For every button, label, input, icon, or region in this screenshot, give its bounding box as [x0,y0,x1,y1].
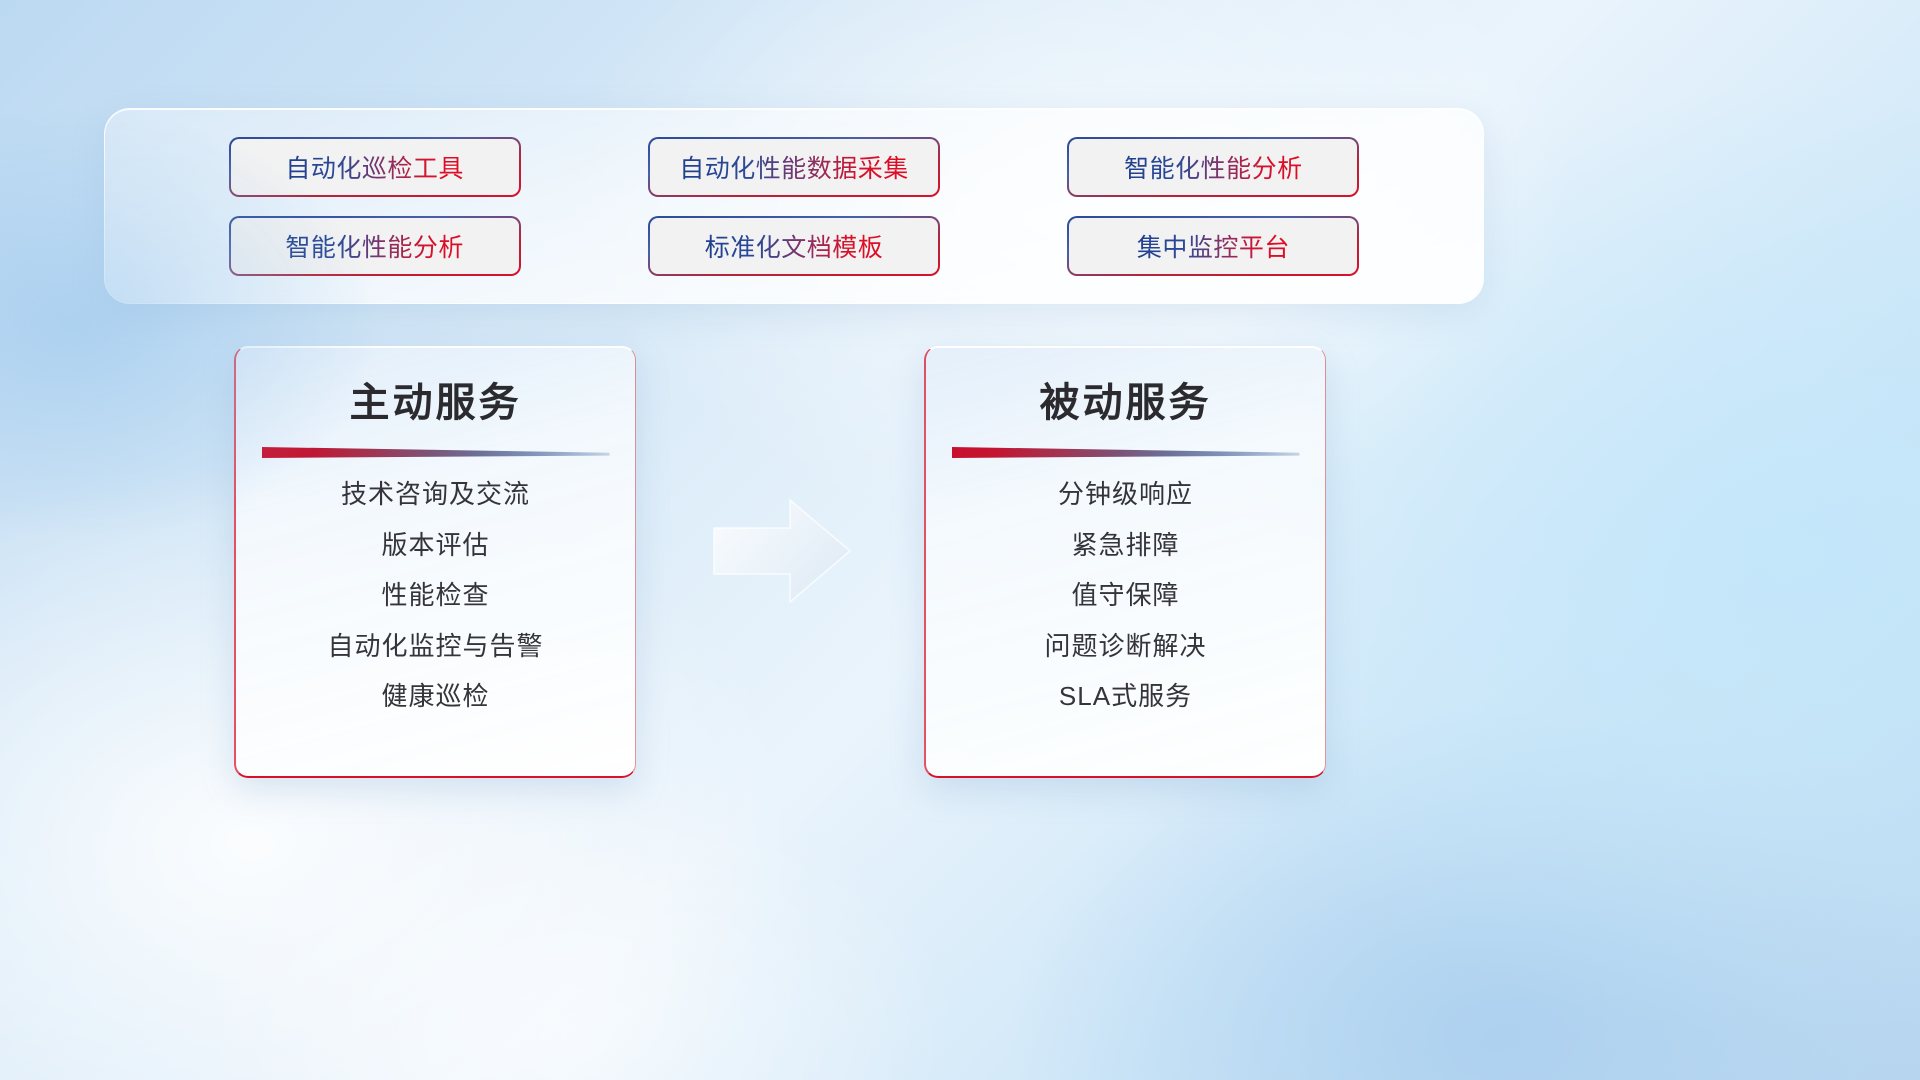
list-item: 版本评估 [381,531,489,560]
capability-pill-label: 集中监控平台 [1137,228,1290,264]
capability-pill-smart-perf-analysis-2[interactable]: 智能化性能分析 [229,216,521,276]
list-item: 紧急排障 [1071,531,1179,560]
pill-surface: 集中监控平台 [1069,218,1357,274]
service-card-active[interactable]: 主动服务 技术咨询及交流 版本评估 性能检查 自动化监控与告警 健康巡检 [234,346,636,778]
capability-pill-label: 标准化文档模板 [705,228,884,264]
capability-pill-standard-doc-template[interactable]: 标准化文档模板 [648,216,940,276]
pill-surface: 自动化巡检工具 [231,139,519,195]
capability-pill-label: 智能化性能分析 [285,228,464,264]
capability-pill-auto-perf-data-collection[interactable]: 自动化性能数据采集 [648,137,940,197]
pill-surface: 智能化性能分析 [1069,139,1357,195]
list-item: 问题诊断解决 [1044,632,1206,661]
capability-pill-label: 智能化性能分析 [1124,149,1303,185]
flow-arrow-right-icon [712,498,852,604]
card-divider [262,447,610,458]
list-item: 性能检查 [381,581,489,610]
list-item: 自动化监控与告警 [327,632,543,661]
capability-pill-auto-inspection-tool[interactable]: 自动化巡检工具 [229,137,521,197]
capability-pill-smart-perf-analysis[interactable]: 智能化性能分析 [1067,137,1359,197]
capabilities-panel: 自动化巡检工具 自动化性能数据采集 智能化性能分析 智能化性能分析 标准化文档模… [104,108,1484,304]
list-item: 分钟级响应 [1058,480,1193,509]
card-divider [952,447,1300,458]
pill-surface: 智能化性能分析 [231,218,519,274]
service-list-active: 技术咨询及交流 版本评估 性能检查 自动化监控与告警 健康巡检 [260,480,611,711]
service-card-passive[interactable]: 被动服务 分钟级响应 紧急排障 值守保障 问题诊断解决 SLA式服务 [924,346,1326,778]
slide-canvas: 自动化巡检工具 自动化性能数据采集 智能化性能分析 智能化性能分析 标准化文档模… [0,0,1920,1080]
list-item: 健康巡检 [381,682,489,711]
capability-pill-label: 自动化巡检工具 [285,149,464,185]
list-item: 技术咨询及交流 [341,480,530,509]
list-item: 值守保障 [1071,581,1179,610]
service-list-passive: 分钟级响应 紧急排障 值守保障 问题诊断解决 SLA式服务 [950,480,1301,711]
card-title-active: 主动服务 [350,381,522,425]
card-title-passive: 被动服务 [1040,381,1212,425]
pill-surface: 自动化性能数据采集 [650,139,938,195]
pill-surface: 标准化文档模板 [650,218,938,274]
capability-pill-label: 自动化性能数据采集 [679,149,909,185]
list-item: SLA式服务 [1059,682,1192,711]
capability-pill-central-monitor-platform[interactable]: 集中监控平台 [1067,216,1359,276]
